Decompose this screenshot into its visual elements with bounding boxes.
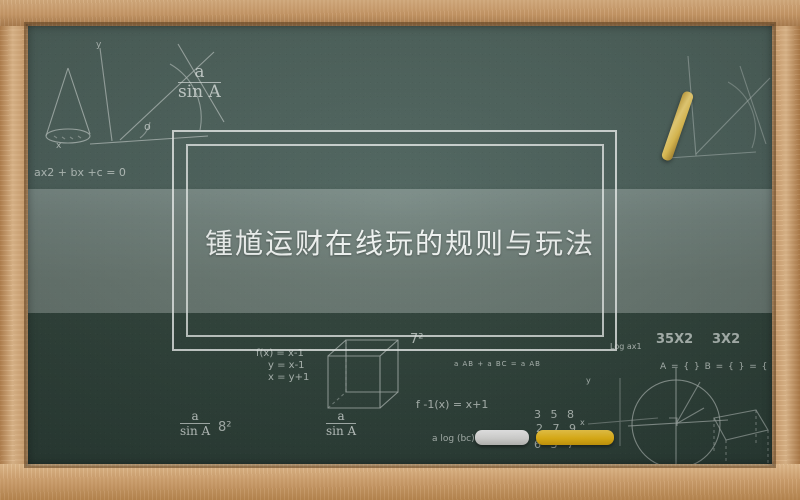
frame-left-rail bbox=[0, 0, 28, 500]
frame-right-rail bbox=[772, 0, 800, 500]
chalk-ledge bbox=[0, 464, 800, 500]
frame-top-rail bbox=[0, 0, 800, 26]
chalkboard-banner: a sin A x y o ax2 + bx +c = 0 f(x) = x-1… bbox=[0, 0, 800, 500]
frame-inner-shadow bbox=[26, 24, 774, 466]
